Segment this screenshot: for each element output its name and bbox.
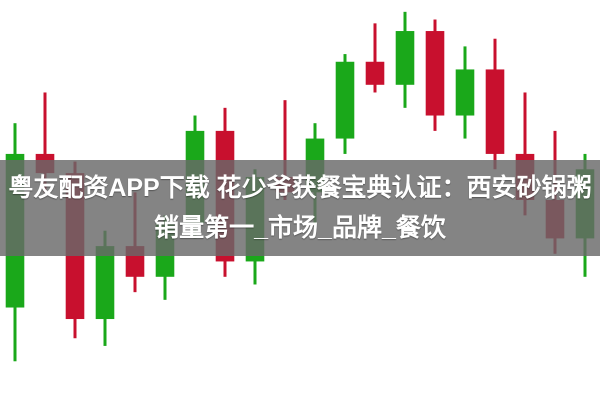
candle-body bbox=[366, 62, 385, 85]
candle-body bbox=[426, 31, 445, 115]
article-thumbnail: 粤友配资APP下载 花少爷获餐宝典认证：西安砂锅粥销量第一_市场_品牌_餐饮 bbox=[0, 0, 600, 400]
candle-body bbox=[486, 69, 505, 153]
candle-body bbox=[396, 31, 415, 85]
candle-body bbox=[336, 62, 355, 139]
headline-title: 粤友配资APP下载 花少爷获餐宝典认证：西安砂锅粥销量第一_市场_品牌_餐饮 bbox=[2, 168, 598, 248]
candle-body bbox=[96, 246, 115, 319]
headline-overlay-band: 粤友配资APP下载 花少爷获餐宝典认证：西安砂锅粥销量第一_市场_品牌_餐饮 bbox=[0, 160, 600, 256]
candle-body bbox=[456, 69, 475, 115]
